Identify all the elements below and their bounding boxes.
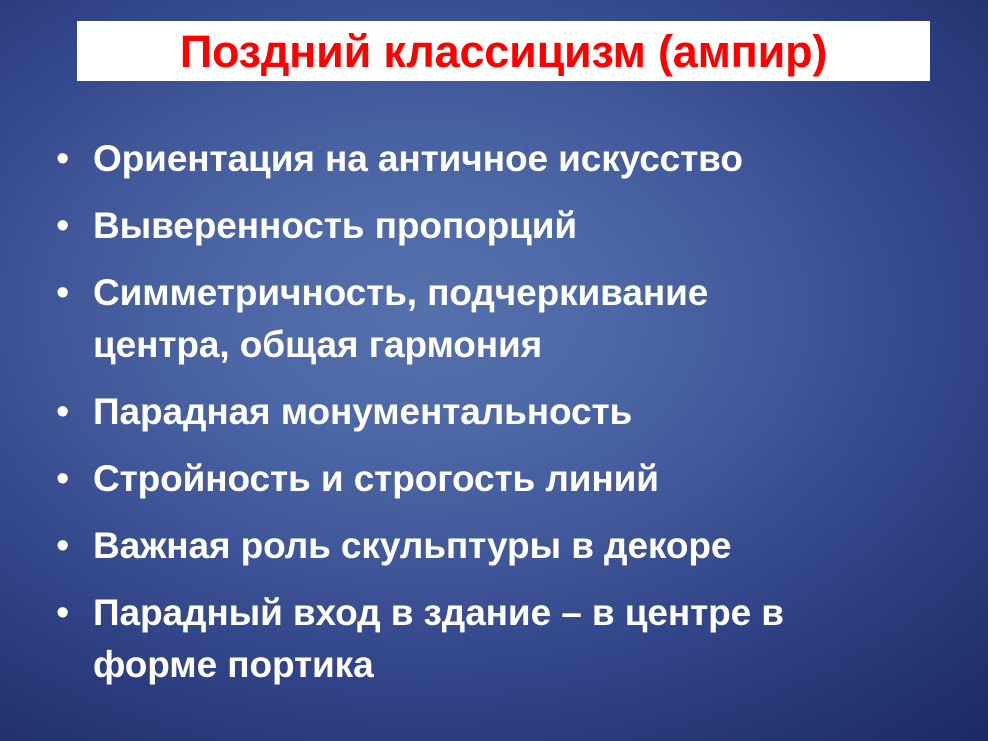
list-item-label: Важная роль скульптуры в декоре (93, 520, 952, 572)
bullet-point-icon: • (52, 200, 93, 252)
list-item: • Ориентация на античное искусство (52, 133, 952, 185)
bullet-point-icon: • (52, 453, 93, 505)
bullet-point-icon: • (52, 587, 93, 639)
list-item: • Симметричность, подчеркивание центра, … (52, 267, 952, 371)
list-item: • Важная роль скульптуры в декоре (52, 520, 952, 572)
bullet-point-icon: • (52, 520, 93, 572)
list-item-label: Стройность и строгость линий (93, 453, 952, 505)
slide-title: Поздний классицизм (ампир) (77, 20, 930, 84)
presentation-slide: Поздний классицизм (ампир) • Ориентация … (0, 0, 988, 741)
list-item-label: Ориентация на античное искусство (93, 133, 952, 185)
bullet-point-icon: • (52, 267, 93, 319)
list-item-label: Парадная монументальность (93, 386, 952, 438)
bullet-list: • Ориентация на античное искусство • Выв… (52, 133, 952, 706)
bullet-point-icon: • (52, 386, 93, 438)
list-item-label: Выверенность пропорций (93, 200, 952, 252)
list-item: • Стройность и строгость линий (52, 453, 952, 505)
list-item-label: Парадный вход в здание – в центре в форм… (93, 587, 793, 691)
bullet-point-icon: • (52, 133, 93, 185)
list-item-label: Симметричность, подчеркивание центра, об… (93, 267, 793, 371)
list-item: • Выверенность пропорций (52, 200, 952, 252)
list-item: • Парадный вход в здание – в центре в фо… (52, 587, 952, 691)
list-item: • Парадная монументальность (52, 386, 952, 438)
